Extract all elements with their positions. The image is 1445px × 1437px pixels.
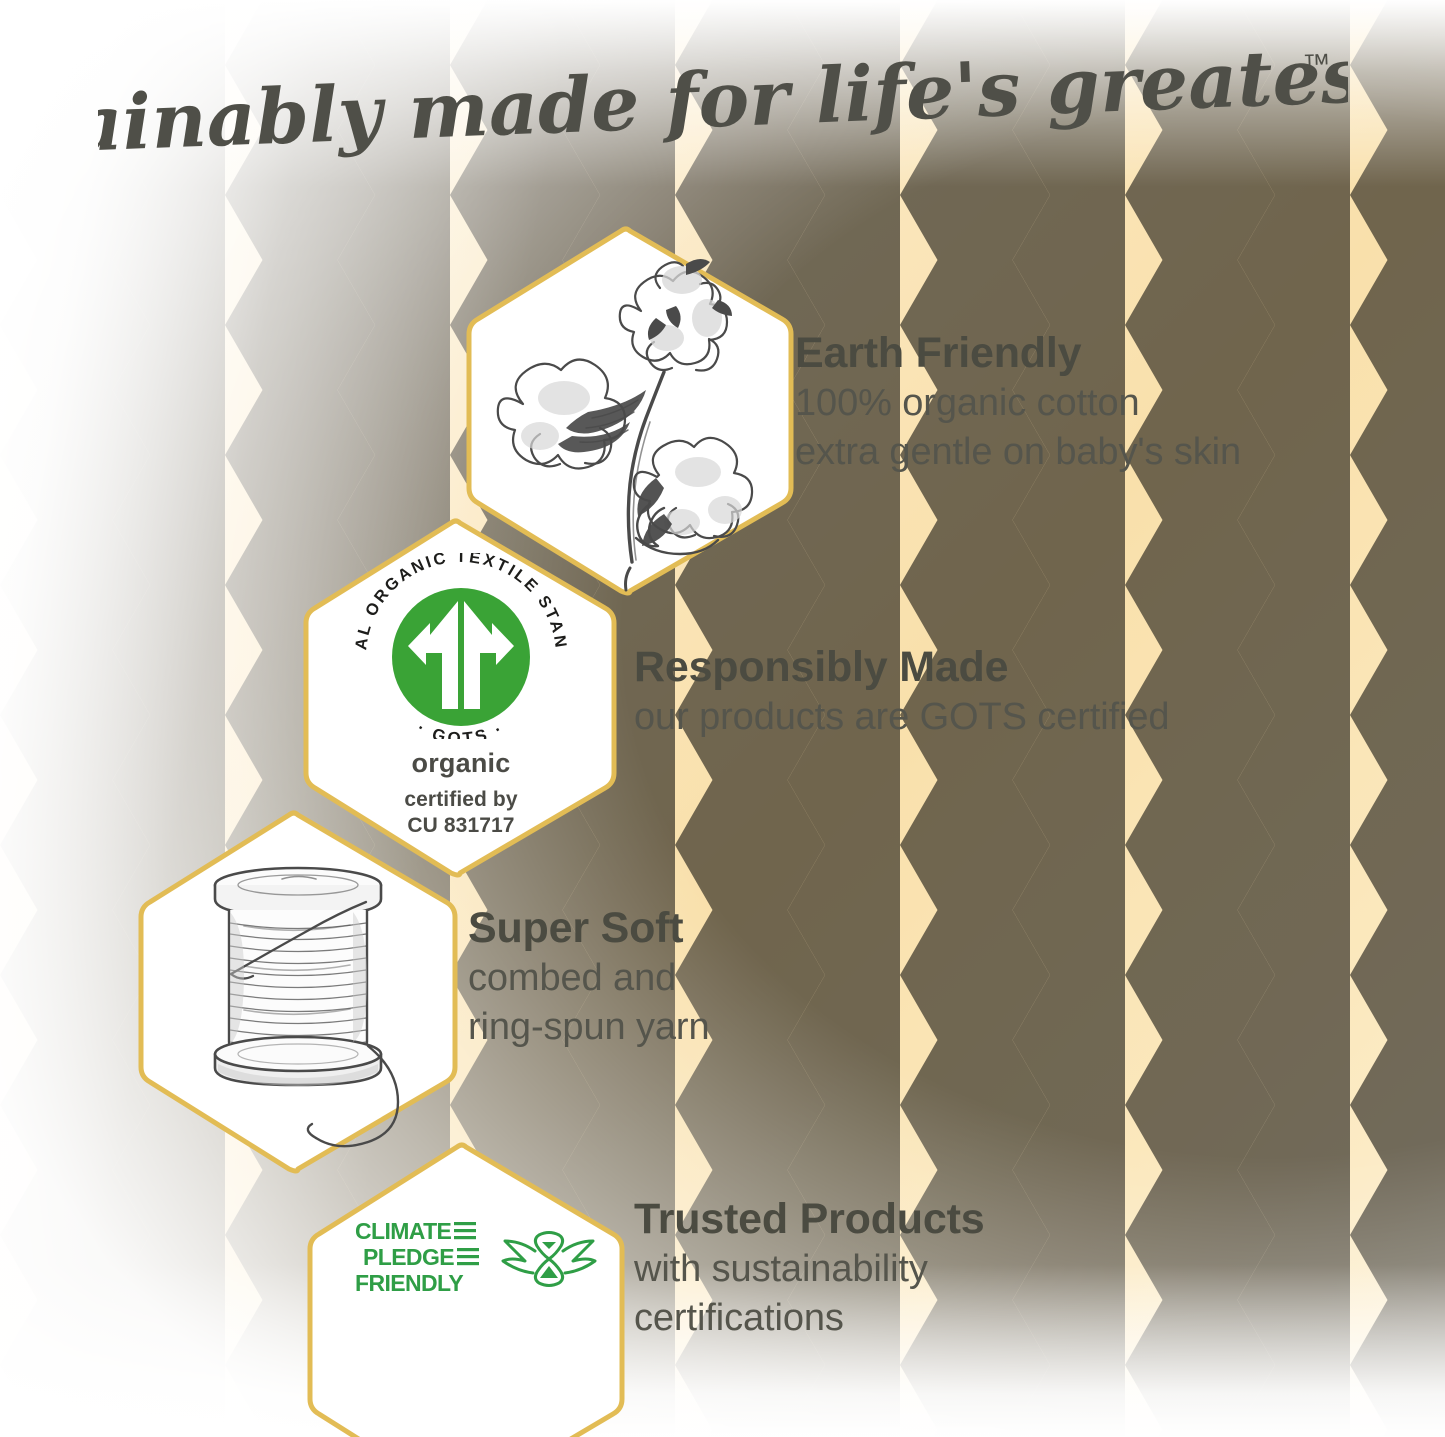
feature-text-trusted-products: Trusted Products with sustainability cer… xyxy=(634,1196,984,1343)
feature-text-responsibly-made: Responsibly Made our products are GOTS c… xyxy=(634,644,1169,742)
gots-certified-by-label: certified by xyxy=(330,787,592,813)
cpf-line-3: FRIENDLY xyxy=(355,1270,463,1296)
gots-certifier-code: CU 831717 xyxy=(330,813,592,839)
winged-hourglass-icon xyxy=(501,1223,597,1295)
infographic-page: sustainably made for life's greatest joy… xyxy=(0,0,1445,1437)
gots-seal: GLOBAL ORGANIC TEXTILE STANDARD · GOTS · xyxy=(330,553,592,739)
cpf-stripe-accent xyxy=(454,1222,479,1265)
cpf-wordmark: CLIMATE PLEDGE FRIENDLY xyxy=(355,1218,485,1300)
feature-title: Trusted Products xyxy=(634,1196,984,1242)
feature-hexagon-super-soft[interactable] xyxy=(132,806,464,1178)
feature-title: Earth Friendly xyxy=(795,330,1241,376)
headline-banner: sustainably made for life's greatest joy… xyxy=(0,44,1445,159)
gots-certification-icon: GLOBAL ORGANIC TEXTILE STANDARD · GOTS ·… xyxy=(330,553,592,839)
trademark-symbol: ™ xyxy=(1302,48,1331,80)
feature-subline: with sustainability xyxy=(634,1245,984,1294)
feature-title: Responsibly Made xyxy=(634,644,1169,690)
headline-text: sustainably made for life's greatest joy xyxy=(98,44,1348,159)
feature-subline: our products are GOTS certified xyxy=(634,693,1169,742)
feature-text-super-soft: Super Soft combed and ring-spun yarn xyxy=(468,905,710,1052)
feature-subline: certifications xyxy=(634,1294,984,1343)
cpf-line-1: CLIMATE xyxy=(355,1218,452,1244)
gots-organic-label: organic xyxy=(330,748,592,779)
feature-title: Super Soft xyxy=(468,905,710,951)
cpf-line-2: PLEDGE xyxy=(363,1244,454,1270)
feature-text-earth-friendly: Earth Friendly 100% organic cotton extra… xyxy=(795,330,1241,477)
climate-pledge-friendly-icon: CLIMATE PLEDGE FRIENDLY xyxy=(355,1218,597,1300)
headline-script-text: sustainably made for life's greatest joy… xyxy=(98,44,1348,159)
feature-subline: 100% organic cotton xyxy=(795,379,1241,428)
feature-subline: combed and xyxy=(468,954,710,1003)
feature-subline: ring-spun yarn xyxy=(468,1003,710,1052)
gots-green-disc xyxy=(392,588,530,726)
feature-subline: extra gentle on baby's skin xyxy=(795,428,1241,477)
